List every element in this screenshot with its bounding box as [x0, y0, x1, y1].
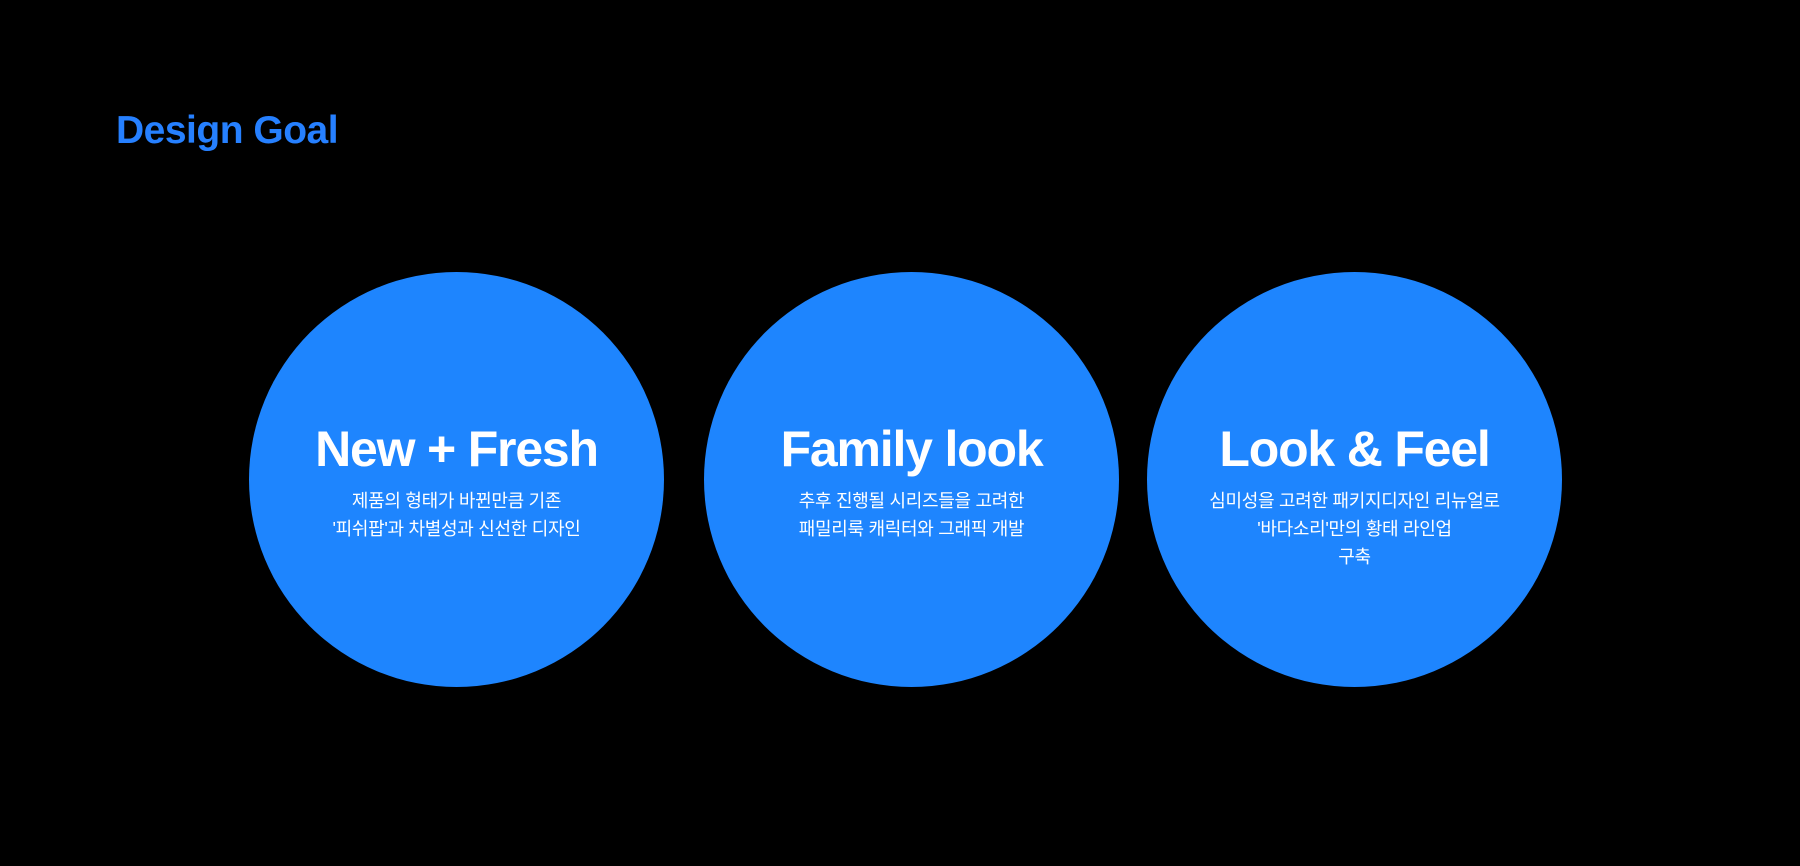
design-goal-circle-1[interactable]: New + Fresh 제품의 형태가 바뀐만큼 기존 '피쉬팝'과 차별성과 …	[249, 272, 664, 687]
circle-1-subtitle: 제품의 형태가 바뀐만큼 기존 '피쉬팝'과 차별성과 신선한 디자인	[332, 488, 580, 544]
circle-3-content: Look & Feel 심미성을 고려한 패키지디자인 리뉴얼로 '바다소리'만…	[1147, 424, 1562, 572]
circle-2-heading: Family look	[781, 424, 1043, 474]
design-goal-circle-3[interactable]: Look & Feel 심미성을 고려한 패키지디자인 리뉴얼로 '바다소리'만…	[1147, 272, 1562, 687]
slide-canvas: Design Goal New + Fresh 제품의 형태가 바뀐만큼 기존 …	[0, 0, 1800, 866]
design-goal-circle-2[interactable]: Family look 추후 진행될 시리즈들을 고려한 패밀리룩 캐릭터와 그…	[704, 272, 1119, 687]
circle-2-subtitle: 추후 진행될 시리즈들을 고려한 패밀리룩 캐릭터와 그래픽 개발	[799, 488, 1024, 544]
circle-3-heading: Look & Feel	[1219, 424, 1489, 474]
circle-3-subtitle: 심미성을 고려한 패키지디자인 리뉴얼로 '바다소리'만의 황태 라인업 구축	[1209, 488, 1500, 572]
page-title: Design Goal	[116, 110, 338, 153]
circle-1-content: New + Fresh 제품의 형태가 바뀐만큼 기존 '피쉬팝'과 차별성과 …	[249, 424, 664, 544]
circle-2-content: Family look 추후 진행될 시리즈들을 고려한 패밀리룩 캐릭터와 그…	[704, 424, 1119, 544]
circle-1-heading: New + Fresh	[315, 424, 598, 474]
design-goal-circle-group: New + Fresh 제품의 형태가 바뀐만큼 기존 '피쉬팝'과 차별성과 …	[0, 272, 1800, 692]
